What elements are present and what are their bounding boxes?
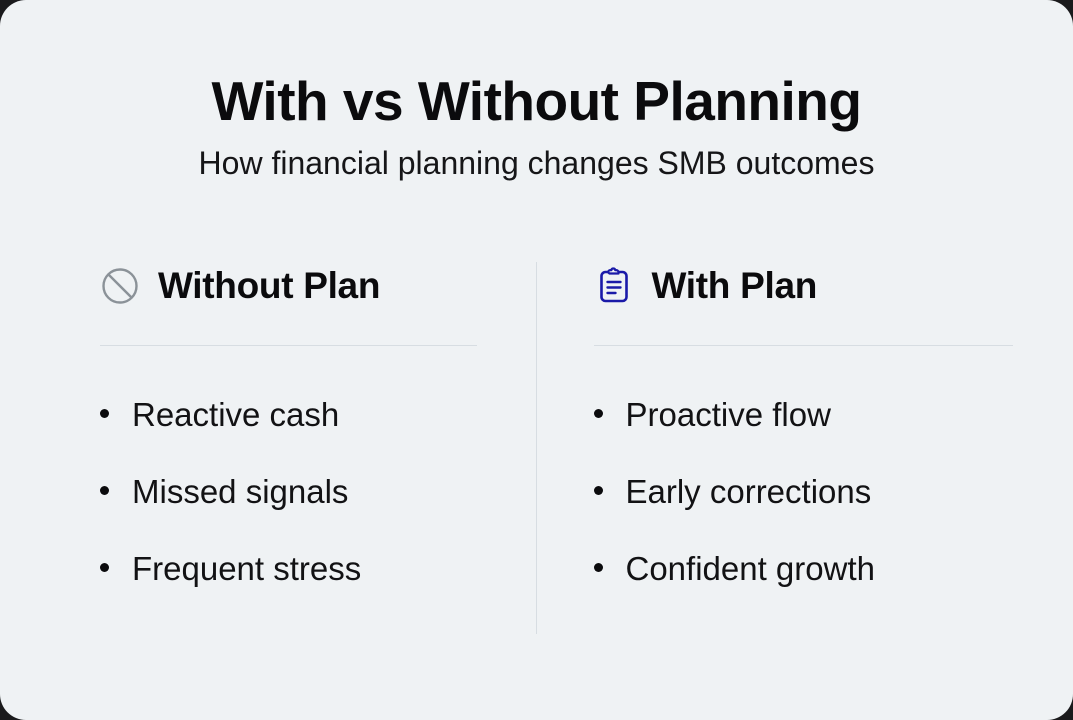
list-item-label: Confident growth [626, 552, 875, 585]
column-title-with-plan: With Plan [652, 265, 818, 307]
bullet-dot-icon [100, 563, 109, 572]
column-title-without-plan: Without Plan [158, 265, 380, 307]
column-with-plan: With Plan Proactive flow Early correctio… [537, 256, 1073, 656]
list-item-label: Reactive cash [132, 398, 339, 431]
comparison-columns: Without Plan Reactive cash Missed signal… [0, 256, 1073, 656]
page-subtitle: How financial planning changes SMB outco… [0, 144, 1073, 182]
page-title: With vs Without Planning [0, 72, 1073, 130]
bullet-dot-icon [594, 486, 603, 495]
list-item: Frequent stress [100, 552, 477, 585]
list-item: Early corrections [594, 475, 1014, 508]
bullet-dot-icon [594, 563, 603, 572]
list-item-label: Early corrections [626, 475, 872, 508]
list-item-label: Proactive flow [626, 398, 831, 431]
header: With vs Without Planning How financial p… [0, 72, 1073, 183]
bullet-dot-icon [100, 486, 109, 495]
list-item: Missed signals [100, 475, 477, 508]
bullet-list-without-plan: Reactive cash Missed signals Frequent st… [100, 398, 477, 585]
bullet-dot-icon [100, 409, 109, 418]
bullet-list-with-plan: Proactive flow Early corrections Confide… [594, 398, 1014, 585]
column-rule-with-plan [594, 345, 1014, 346]
column-without-plan: Without Plan Reactive cash Missed signal… [0, 256, 537, 656]
comparison-card: With vs Without Planning How financial p… [0, 0, 1073, 720]
list-item-label: Frequent stress [132, 552, 361, 585]
list-item: Proactive flow [594, 398, 1014, 431]
column-header-with-plan: With Plan [594, 256, 1014, 316]
list-item: Reactive cash [100, 398, 477, 431]
list-item-label: Missed signals [132, 475, 348, 508]
prohibited-icon [100, 266, 140, 306]
list-item: Confident growth [594, 552, 1014, 585]
bullet-dot-icon [594, 409, 603, 418]
column-rule-without-plan [100, 345, 477, 346]
column-header-without-plan: Without Plan [100, 256, 477, 316]
clipboard-icon [594, 266, 634, 306]
